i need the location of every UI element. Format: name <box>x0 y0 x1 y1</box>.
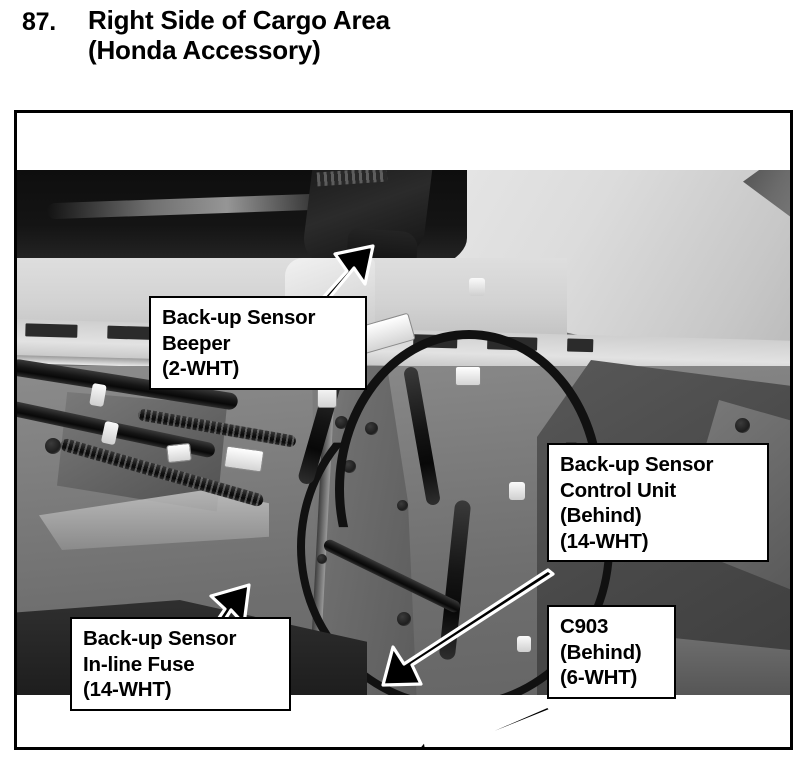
photo-harness-clip <box>469 278 485 296</box>
callout-line: Beeper <box>162 331 355 357</box>
page-title-line-2: (Honda Accessory) <box>88 35 728 65</box>
photo-white-connector <box>166 443 192 463</box>
callout-line: Back-up Sensor <box>83 626 279 652</box>
photo-bolt-hole <box>45 438 61 454</box>
callout-line: Control Unit <box>560 478 757 504</box>
callout-line: (14-WHT) <box>83 677 279 703</box>
callout-c903[interactable]: C903 (Behind) (6-WHT) <box>547 605 676 699</box>
photo-harness-clip <box>509 482 525 500</box>
callout-line: Back-up Sensor <box>560 452 757 478</box>
callout-back-up-sensor-control-unit[interactable]: Back-up Sensor Control Unit (Behind) (14… <box>547 443 769 562</box>
callout-line: (2-WHT) <box>162 356 355 382</box>
figure-frame: Back-up Sensor Beeper (2-WHT) Back-up Se… <box>14 110 793 750</box>
arrow-to-c903 <box>401 706 551 750</box>
callout-line: (Behind) <box>560 640 664 666</box>
section-number: 87. <box>22 8 56 37</box>
callout-line: C903 <box>560 614 664 640</box>
callout-line: (6-WHT) <box>560 665 664 691</box>
callout-line: (Behind) <box>560 503 757 529</box>
page-heading: 87. Right Side of Cargo Area (Honda Acce… <box>0 0 806 104</box>
photo-harness-clip <box>517 636 531 652</box>
page-title: Right Side of Cargo Area (Honda Accessor… <box>88 5 728 65</box>
photo-white-connector <box>455 366 481 386</box>
callout-back-up-sensor-beeper[interactable]: Back-up Sensor Beeper (2-WHT) <box>149 296 367 390</box>
photo-trim-slot <box>567 338 593 352</box>
callout-line: (14-WHT) <box>560 529 757 555</box>
page-title-line-1: Right Side of Cargo Area <box>88 5 728 35</box>
callout-line: In-line Fuse <box>83 652 279 678</box>
callout-line: Back-up Sensor <box>162 305 355 331</box>
photo-bolt-hole <box>735 418 750 433</box>
callout-back-up-sensor-in-line-fuse[interactable]: Back-up Sensor In-line Fuse (14-WHT) <box>70 617 291 711</box>
photo-trim-slot <box>25 323 77 337</box>
